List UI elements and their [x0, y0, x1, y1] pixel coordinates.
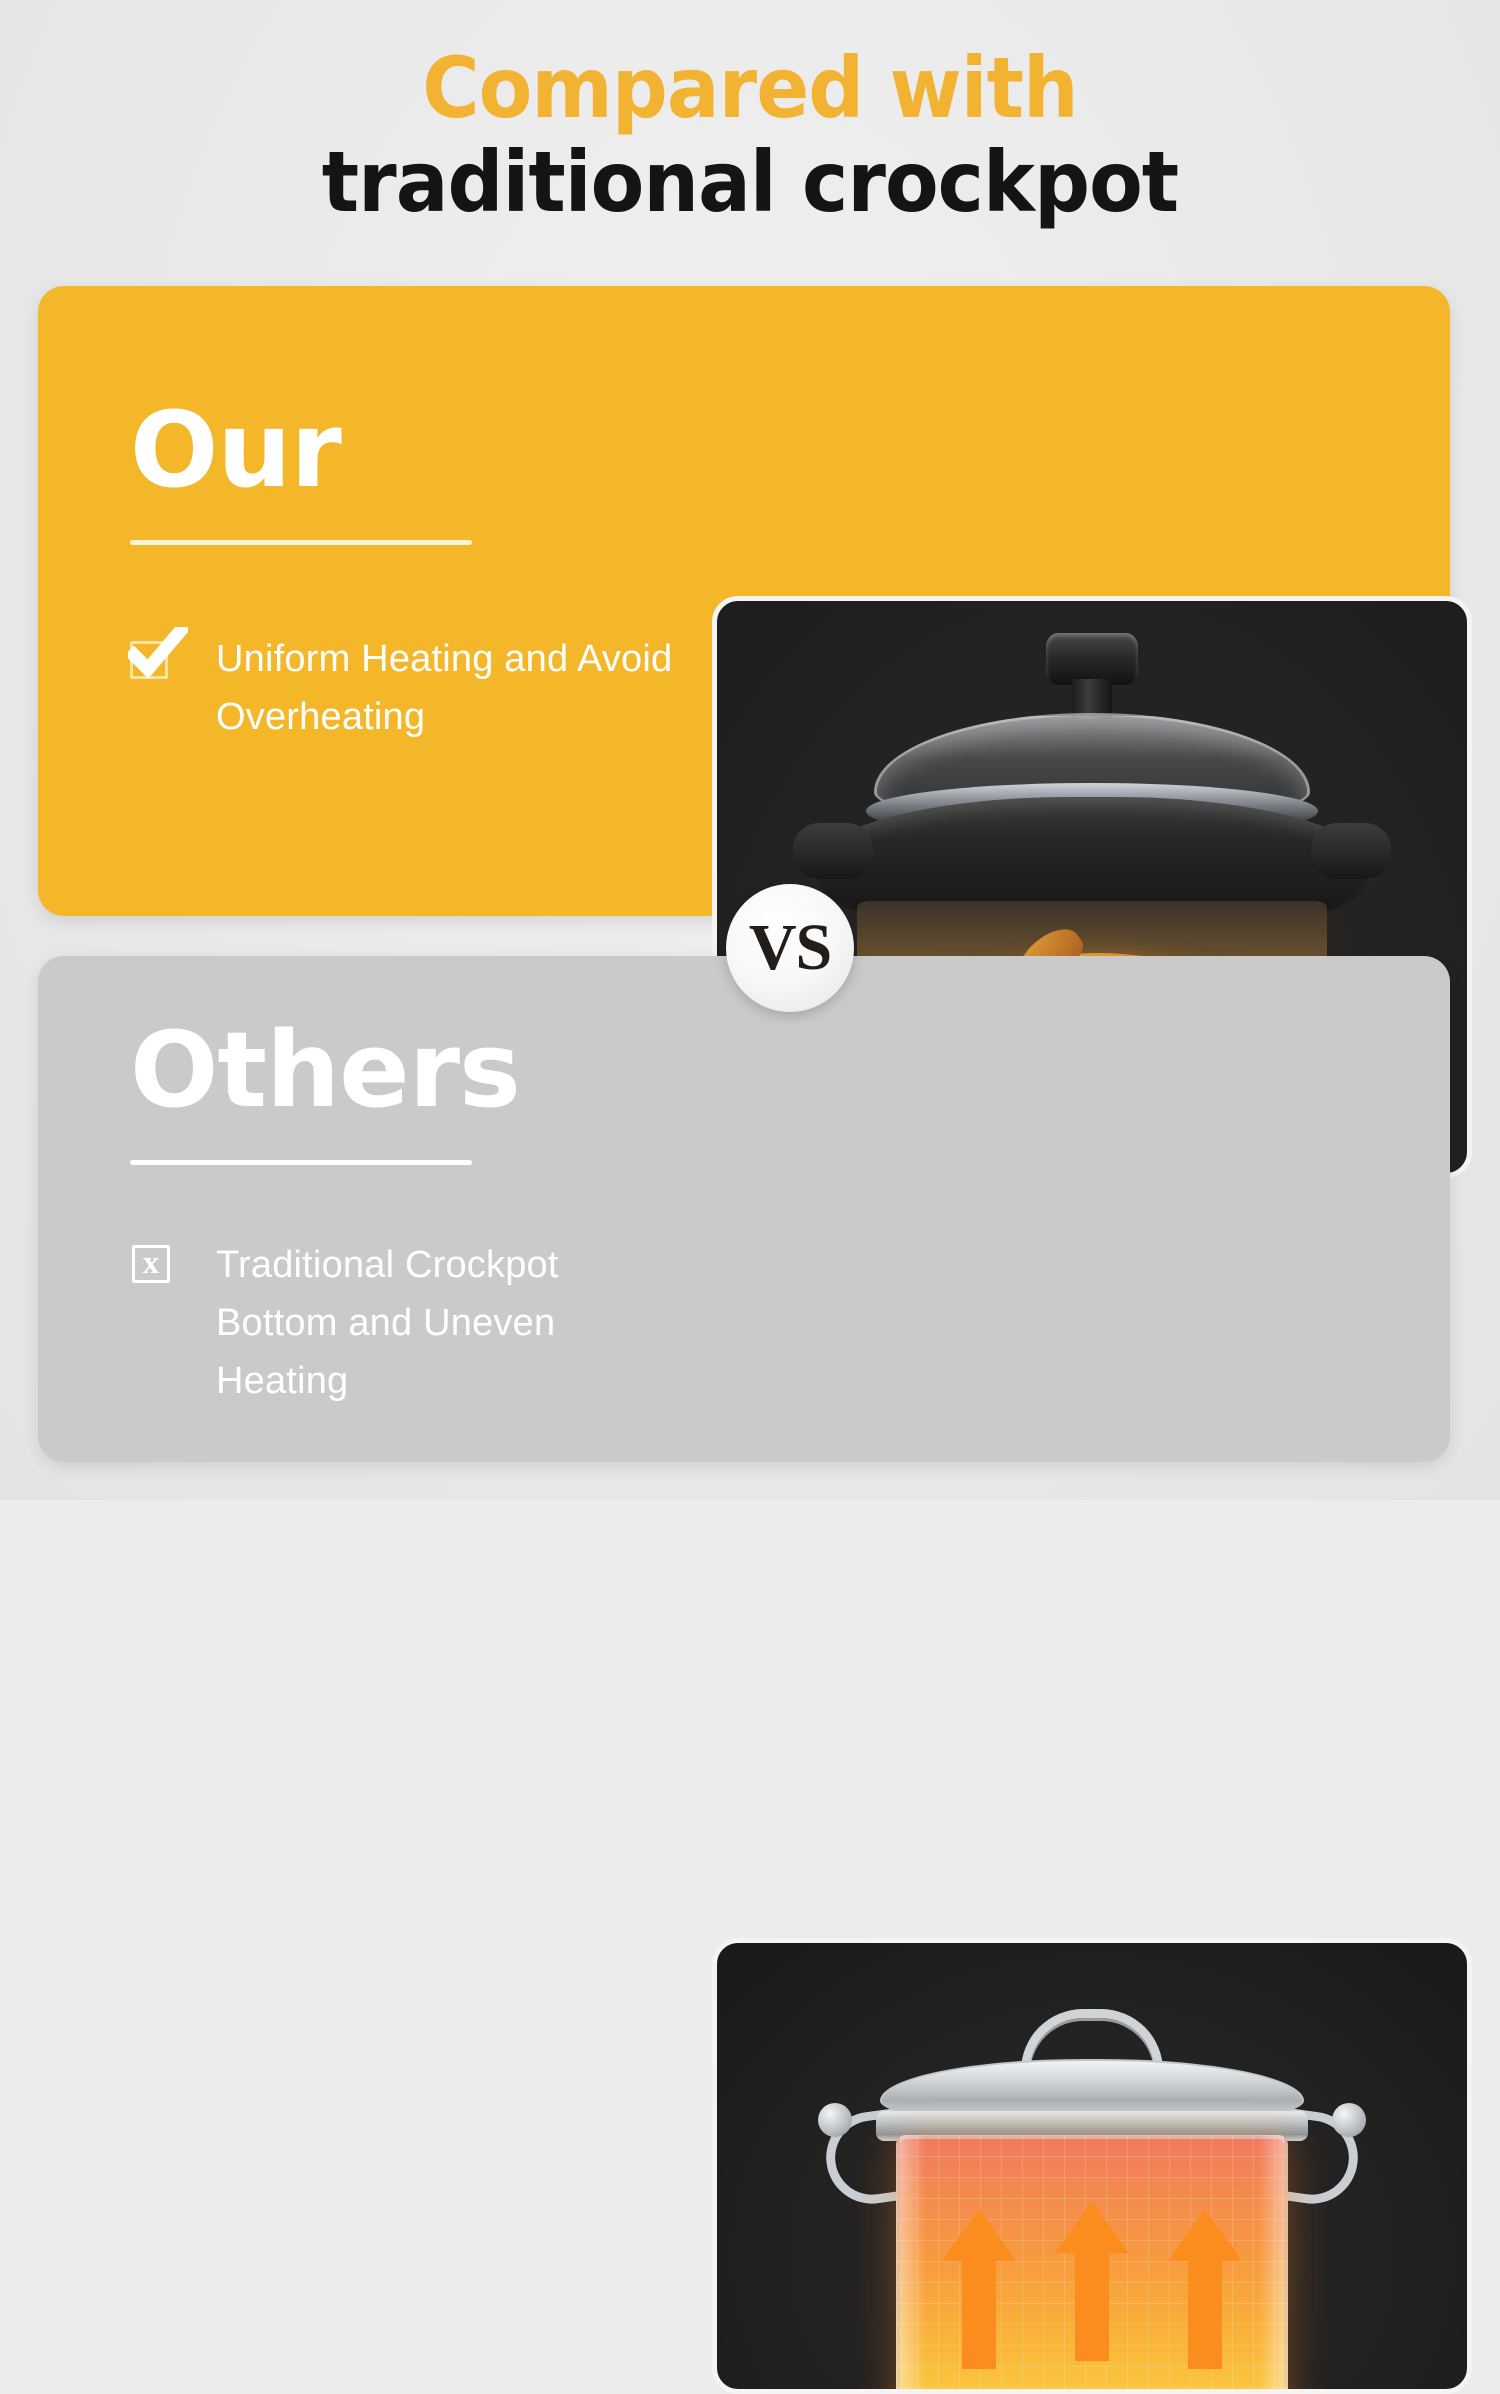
pot-shine-left: [900, 2135, 926, 2394]
pot-shine-right: [1258, 2135, 1284, 2394]
lid-knob: [1046, 633, 1138, 685]
page-title: Compared with traditional crockpot: [0, 46, 1500, 225]
pot-handle-tip-left: [818, 2103, 852, 2137]
cooker-handle-right: [1311, 823, 1391, 879]
heat-arrow-up-icon: [1055, 2201, 1129, 2361]
title-line-secondary: traditional crockpot: [53, 140, 1448, 226]
our-divider: [130, 540, 472, 545]
checkbox-checked-icon: [130, 637, 176, 683]
pot-handle-tip-right: [1332, 2103, 1366, 2137]
heat-arrow-up-icon: [942, 2209, 1016, 2369]
cooker-handle-left: [793, 823, 873, 879]
pot-body: [896, 2135, 1288, 2394]
x-glyph-icon: x: [143, 1247, 160, 1280]
title-line-primary: Compared with: [53, 46, 1448, 132]
checkbox-x-icon: x: [130, 1243, 176, 1289]
vs-label: VS: [749, 910, 831, 986]
others-copy-column: Others x Traditional Crockpot Bottom and…: [130, 1018, 676, 1410]
our-feature-item: Uniform Heating and Avoid Overheating: [130, 631, 676, 747]
others-divider: [130, 1160, 472, 1165]
vs-badge: VS: [726, 884, 854, 1012]
others-feature-item: x Traditional Crockpot Bottom and Uneven…: [130, 1237, 676, 1410]
infographic-page: Compared with traditional crockpot Our U…: [0, 0, 1500, 1500]
others-heading: Others: [130, 1018, 676, 1122]
stockpot-illustration: [717, 1943, 1467, 2389]
panel-our: Our Uniform Heating and Avoid Overheatin…: [38, 286, 1450, 916]
our-feature-text: Uniform Heating and Avoid Overheating: [216, 631, 676, 747]
panel-others: Others x Traditional Crockpot Bottom and…: [38, 956, 1450, 1462]
our-heading: Our: [130, 398, 676, 502]
our-copy-column: Our Uniform Heating and Avoid Overheatin…: [130, 398, 676, 747]
check-mark-icon: [128, 627, 188, 681]
others-feature-text: Traditional Crockpot Bottom and Uneven H…: [216, 1237, 676, 1410]
heat-arrow-up-icon: [1168, 2209, 1242, 2369]
x-square: x: [132, 1245, 170, 1283]
others-product-image: [712, 1938, 1472, 2394]
